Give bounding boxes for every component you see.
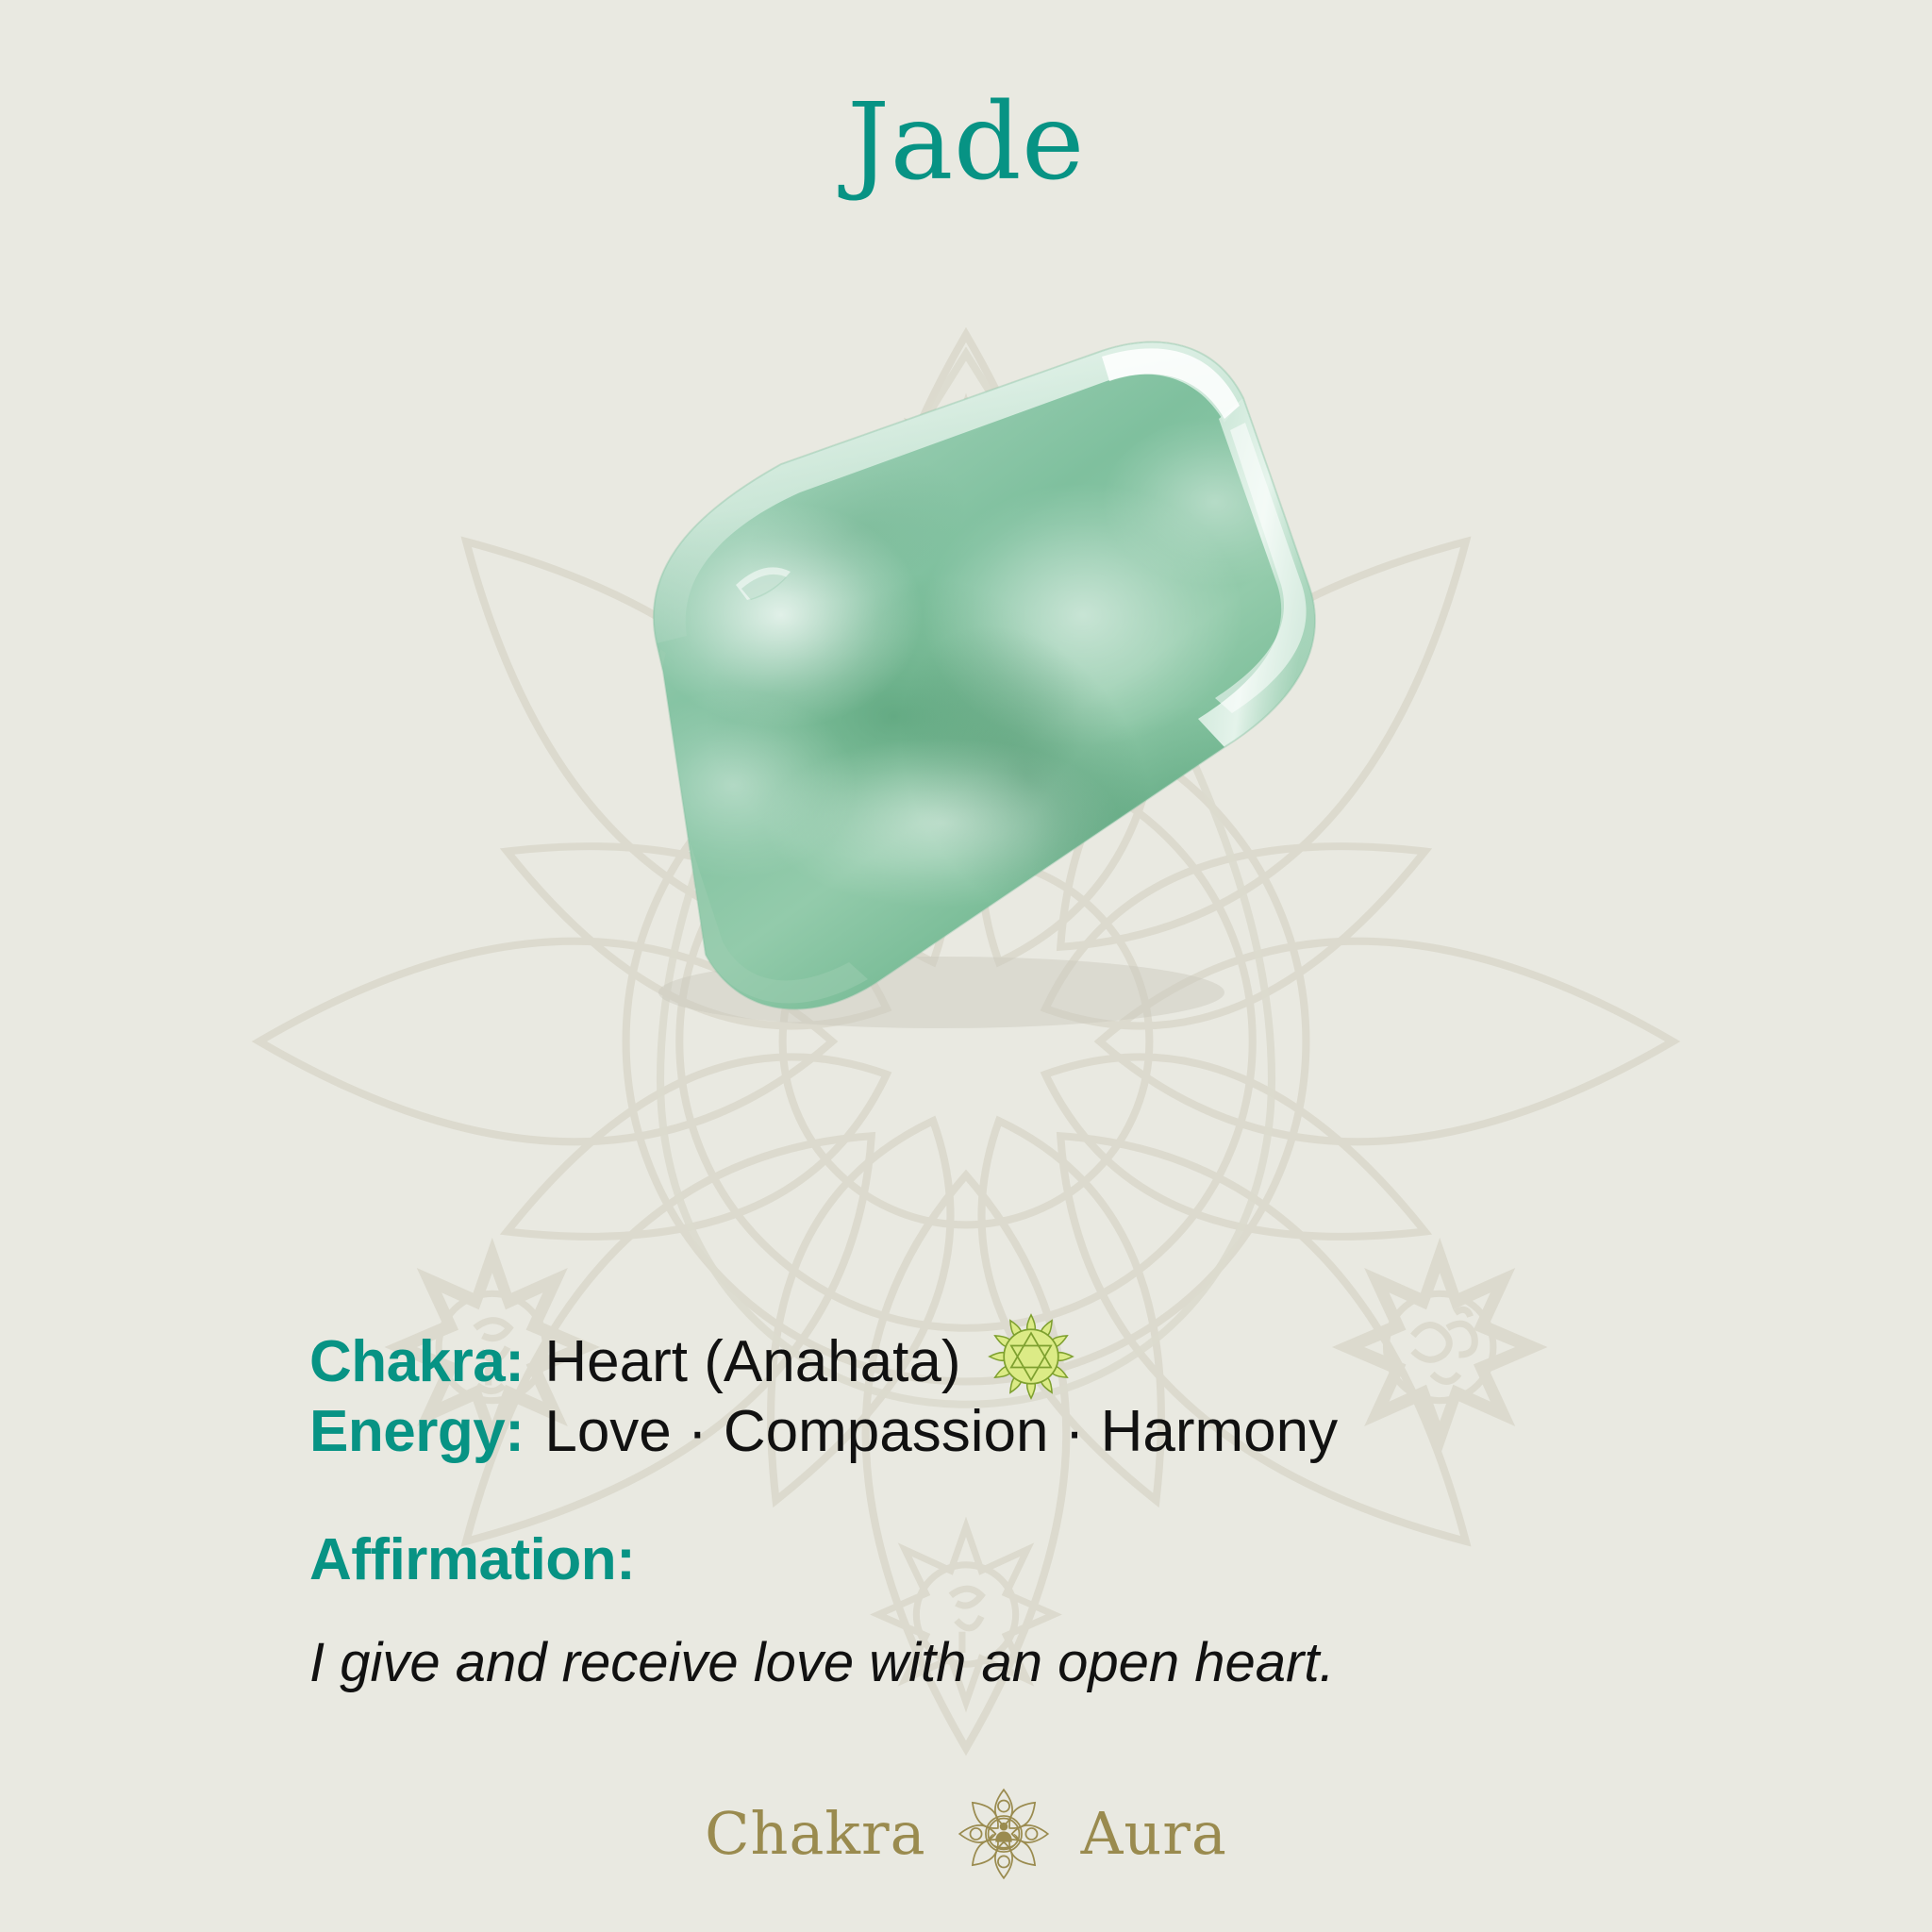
energy-value: Love · Compassion · Harmony bbox=[544, 1398, 1338, 1465]
affirmation-text: I give and receive love with an open hea… bbox=[309, 1631, 1630, 1694]
crystal-details: Chakra: Heart (Anahata) bbox=[309, 1291, 1630, 1694]
page-title: Jade bbox=[0, 90, 1932, 195]
crystal-info-card: Jade bbox=[0, 0, 1932, 1932]
lotus-meditation-emblem-icon bbox=[955, 1785, 1053, 1883]
energy-row: Energy: Love · Compassion · Harmony bbox=[309, 1398, 1630, 1485]
chakra-value: Heart (Anahata) bbox=[544, 1328, 960, 1395]
energy-label: Energy: bbox=[309, 1398, 524, 1465]
jade-stone-image bbox=[498, 332, 1347, 1049]
brand-name-first: Chakra bbox=[705, 1805, 926, 1863]
affirmation-label: Affirmation: bbox=[309, 1526, 1630, 1593]
anahata-heart-chakra-icon bbox=[986, 1311, 1076, 1402]
brand-logo: Chakra bbox=[0, 1785, 1932, 1883]
chakra-row: Chakra: Heart (Anahata) bbox=[309, 1291, 1630, 1377]
chakra-label: Chakra: bbox=[309, 1328, 524, 1395]
brand-name-second: Aura bbox=[1081, 1805, 1227, 1863]
